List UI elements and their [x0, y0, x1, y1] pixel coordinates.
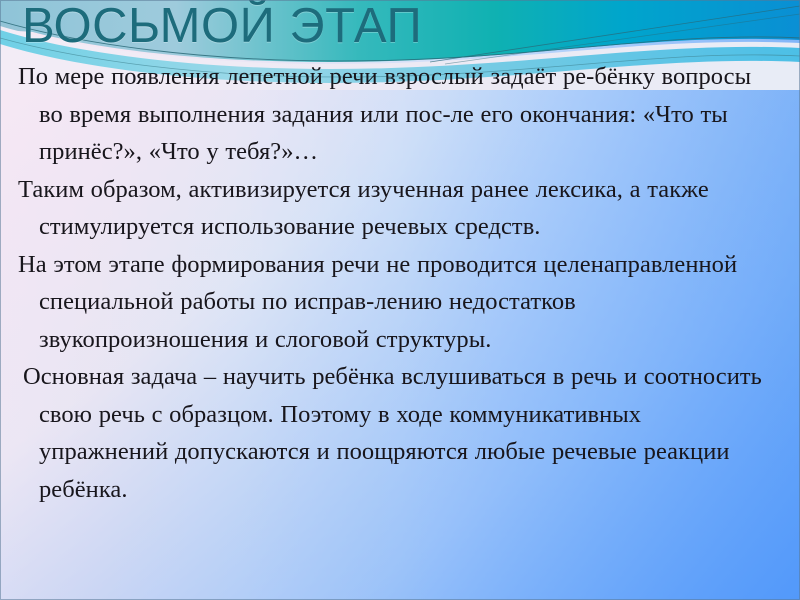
body-paragraph-1: По мере появления лепетной речи взрослый…	[18, 58, 774, 171]
body-paragraph-4: Основная задача – научить ребёнка вслуши…	[18, 358, 774, 508]
body-paragraph-3: На этом этапе формирования речи не прово…	[18, 246, 774, 359]
body-paragraph-2: Таким образом, активизируется изученная …	[18, 171, 774, 246]
presentation-slide: ВОСЬМОЙ ЭТАП По мере появления лепетной …	[0, 0, 800, 600]
slide-body: По мере появления лепетной речи взрослый…	[18, 58, 774, 508]
slide-title: ВОСЬМОЙ ЭТАП	[22, 0, 422, 54]
